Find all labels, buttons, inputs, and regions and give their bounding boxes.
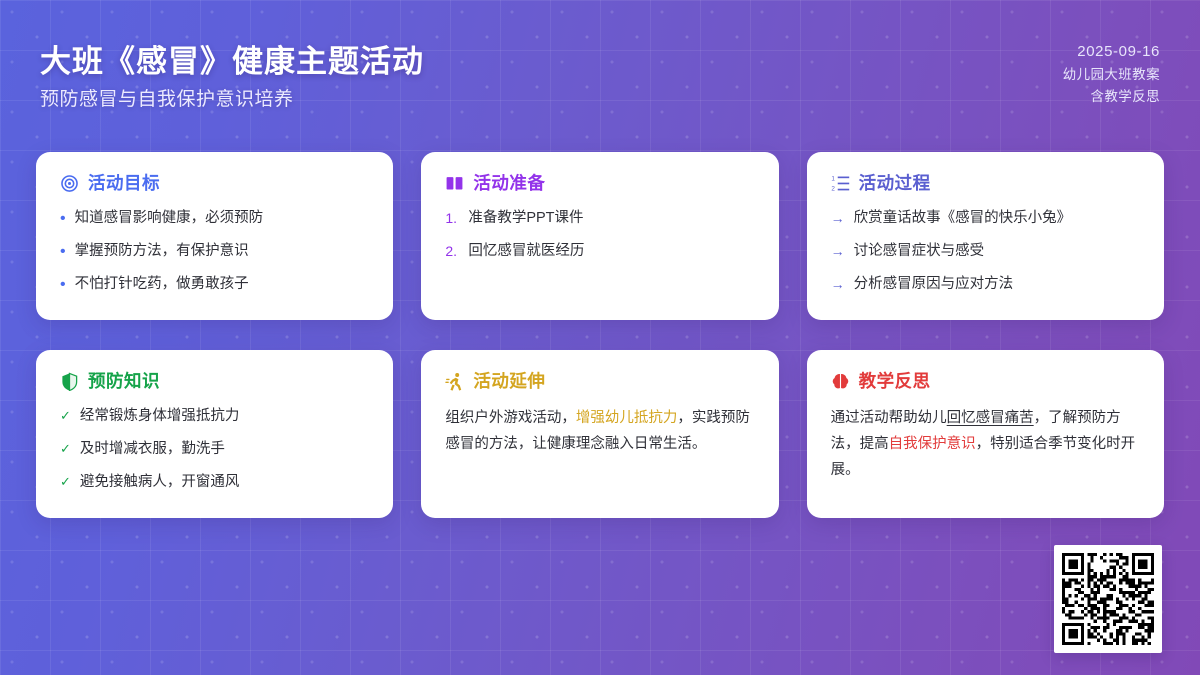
paragraph-segment: 自我保护意识 xyxy=(889,436,976,452)
card-list-knowledge: ✓经常锻炼身体增强抵抗力✓及时增减衣服，勤洗手✓避免接触病人，开窗通风 xyxy=(60,406,369,493)
card-title-preparation: 活动准备 xyxy=(473,175,545,193)
card-header-preparation: 活动准备 xyxy=(445,174,754,193)
card-title-extension: 活动延伸 xyxy=(473,373,545,391)
qr-code-icon xyxy=(1062,553,1154,645)
page-title: 大班《感冒》健康主题活动 xyxy=(40,36,424,81)
target-icon xyxy=(60,174,79,193)
list-item-label: 分析感冒原因与应对方法 xyxy=(854,274,1140,296)
arrow-right-icon: → xyxy=(831,274,845,295)
list-item-label: 知道感冒影响健康，必须预防 xyxy=(75,208,370,230)
card-header-extension: 活动延伸 xyxy=(445,372,754,391)
card-knowledge[interactable]: 预防知识✓经常锻炼身体增强抵抗力✓及时增减衣服，勤洗手✓避免接触病人，开窗通风 xyxy=(36,350,393,518)
card-extension[interactable]: 活动延伸组织户外游戏活动，增强幼儿抵抗力，实践预防感冒的方法，让健康理念融入日常… xyxy=(421,350,778,518)
card-title-knowledge: 预防知识 xyxy=(88,373,160,391)
check-icon: ✓ xyxy=(60,472,71,492)
list-item: •不怕打针吃药，做勇敢孩子 xyxy=(60,274,369,296)
running-person-icon xyxy=(445,372,464,391)
bullet-dot-icon: • xyxy=(60,274,66,296)
bullet-dot-icon: • xyxy=(60,241,66,263)
card-goal[interactable]: 活动目标•知道感冒影响健康，必须预防•掌握预防方法，有保护意识•不怕打针吃药，做… xyxy=(36,152,393,320)
header-meta-line-2: 含教学反思 xyxy=(1063,86,1160,108)
arrow-right-icon: → xyxy=(831,241,845,262)
card-title-process: 活动过程 xyxy=(859,175,931,193)
card-header-reflection: 教学反思 xyxy=(831,372,1140,391)
list-item: →分析感冒原因与应对方法 xyxy=(831,274,1140,296)
svg-text:2: 2 xyxy=(831,185,835,192)
qr-code[interactable] xyxy=(1054,545,1162,653)
list-item: ✓经常锻炼身体增强抵抗力 xyxy=(60,406,369,428)
card-header-knowledge: 预防知识 xyxy=(60,372,369,391)
list-item: →讨论感冒症状与感受 xyxy=(831,241,1140,263)
card-title-reflection: 教学反思 xyxy=(859,373,931,391)
list-item-label: 不怕打针吃药，做勇敢孩子 xyxy=(75,274,370,296)
list-number: 2. xyxy=(445,241,459,262)
list-item: •知道感冒影响健康，必须预防 xyxy=(60,208,369,230)
check-icon: ✓ xyxy=(60,439,71,459)
card-header-process: 1 2 活动过程 xyxy=(831,174,1140,193)
card-process[interactable]: 1 2 活动过程→欣赏童话故事《感冒的快乐小兔》→讨论感冒症状与感受→分析感冒原… xyxy=(807,152,1164,320)
header-date: 2025-09-16 xyxy=(1063,40,1160,64)
check-icon: ✓ xyxy=(60,406,71,426)
card-title-goal: 活动目标 xyxy=(88,175,160,193)
brain-icon xyxy=(831,372,850,391)
card-preparation[interactable]: 活动准备1.准备教学PPT课件2.回忆感冒就医经历 xyxy=(421,152,778,320)
list-item-label: 回忆感冒就医经历 xyxy=(468,241,754,263)
card-paragraph-extension: 组织户外游戏活动，增强幼儿抵抗力，实践预防感冒的方法，让健康理念融入日常生活。 xyxy=(445,406,754,458)
shield-icon xyxy=(60,372,79,391)
page-subtitle: 预防感冒与自我保护意识培养 xyxy=(40,84,294,111)
header-meta: 2025-09-16 幼儿园大班教案 含教学反思 xyxy=(1063,40,1160,108)
paragraph-segment: 增强幼儿抵抗力 xyxy=(576,410,678,426)
paragraph-segment: 组织户外游戏活动， xyxy=(445,410,576,426)
list-item-label: 经常锻炼身体增强抵抗力 xyxy=(80,406,369,428)
svg-text:1: 1 xyxy=(831,176,835,183)
card-header-goal: 活动目标 xyxy=(60,174,369,193)
ordered-list-icon: 1 2 xyxy=(831,174,850,193)
arrow-right-icon: → xyxy=(831,208,845,229)
list-item: 2.回忆感冒就医经历 xyxy=(445,241,754,263)
list-number: 1. xyxy=(445,208,459,229)
book-icon xyxy=(445,174,464,193)
card-list-process: →欣赏童话故事《感冒的快乐小兔》→讨论感冒症状与感受→分析感冒原因与应对方法 xyxy=(831,208,1140,295)
card-paragraph-reflection: 通过活动帮助幼儿回忆感冒痛苦，了解预防方法，提高自我保护意识，特别适合季节变化时… xyxy=(831,406,1140,483)
list-item-label: 避免接触病人，开窗通风 xyxy=(80,472,369,494)
header-meta-line-1: 幼儿园大班教案 xyxy=(1063,64,1160,86)
card-list-goal: •知道感冒影响健康，必须预防•掌握预防方法，有保护意识•不怕打针吃药，做勇敢孩子 xyxy=(60,208,369,295)
list-item-label: 掌握预防方法，有保护意识 xyxy=(75,241,370,263)
list-item: ✓及时增减衣服，勤洗手 xyxy=(60,439,369,461)
list-item: ✓避免接触病人，开窗通风 xyxy=(60,472,369,494)
card-list-preparation: 1.准备教学PPT课件2.回忆感冒就医经历 xyxy=(445,208,754,263)
card-reflection[interactable]: 教学反思通过活动帮助幼儿回忆感冒痛苦，了解预防方法，提高自我保护意识，特别适合季… xyxy=(807,350,1164,518)
list-item: •掌握预防方法，有保护意识 xyxy=(60,241,369,263)
paragraph-segment: 回忆感冒痛苦 xyxy=(947,410,1034,426)
card-grid: 活动目标•知道感冒影响健康，必须预防•掌握预防方法，有保护意识•不怕打针吃药，做… xyxy=(36,152,1164,518)
list-item-label: 及时增减衣服，勤洗手 xyxy=(80,439,369,461)
list-item-label: 准备教学PPT课件 xyxy=(468,208,754,230)
bullet-dot-icon: • xyxy=(60,208,66,230)
list-item: 1.准备教学PPT课件 xyxy=(445,208,754,230)
paragraph-segment: 通过活动帮助幼儿 xyxy=(831,410,947,426)
list-item-label: 欣赏童话故事《感冒的快乐小兔》 xyxy=(854,208,1140,230)
list-item-label: 讨论感冒症状与感受 xyxy=(854,241,1140,263)
page-header: 大班《感冒》健康主题活动 预防感冒与自我保护意识培养 2025-09-16 幼儿… xyxy=(0,0,1200,140)
list-item: →欣赏童话故事《感冒的快乐小兔》 xyxy=(831,208,1140,230)
